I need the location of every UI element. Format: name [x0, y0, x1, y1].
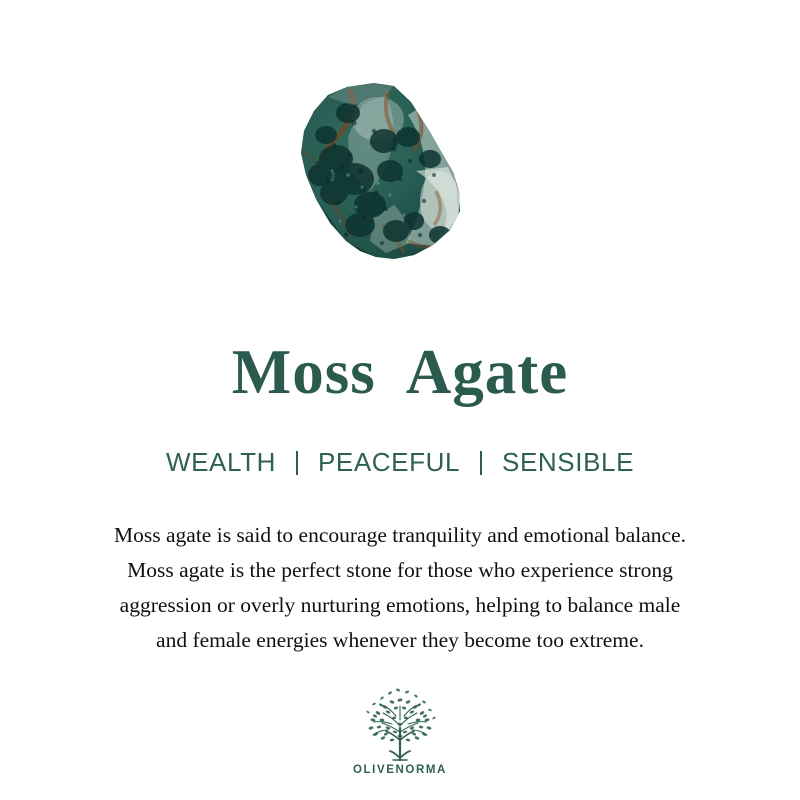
keyword-list: WEALTH PEACEFUL SENSIBLE [0, 446, 800, 478]
keyword-wealth: WEALTH [166, 446, 276, 478]
olive-tree-icon [352, 684, 448, 762]
description-block: Moss agate is said to encourage tranquil… [40, 518, 760, 658]
keyword-peaceful: PEACEFUL [318, 446, 460, 478]
brand-logo: OLIVENORMA [0, 684, 800, 776]
keyword-separator [296, 451, 298, 475]
description-line: and female energies whenever they become… [40, 623, 760, 658]
keyword-separator [480, 451, 482, 475]
stone-info-card: Moss Agate WEALTH PEACEFUL SENSIBLE Moss… [0, 0, 800, 800]
stone-image [290, 75, 475, 270]
keyword-sensible: SENSIBLE [502, 446, 634, 478]
description-line: Moss agate is the perfect stone for thos… [40, 553, 760, 588]
page-title: Moss Agate [0, 336, 800, 408]
description-line: aggression or overly nurturing emotions,… [40, 588, 760, 623]
brand-wordmark: OLIVENORMA [353, 764, 447, 776]
description-line: Moss agate is said to encourage tranquil… [40, 518, 760, 553]
moss-agate-stone-icon [290, 75, 475, 270]
